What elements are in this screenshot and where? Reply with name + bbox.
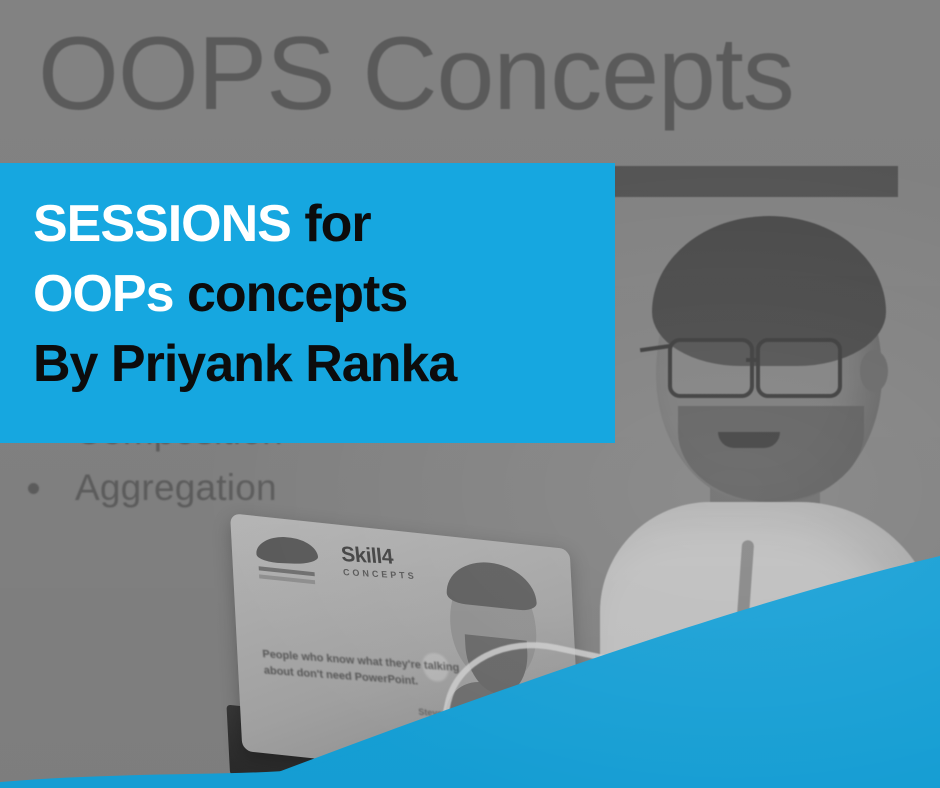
bullet-dot-icon xyxy=(28,483,39,494)
presenter-mouth xyxy=(718,432,780,448)
laptop-sticker-quote-attribution: Steve Jobs xyxy=(266,693,467,723)
laptop-sticker-brand: Skill4 CONCEPTS xyxy=(340,543,417,581)
headline-line-1-rest: for xyxy=(291,195,371,253)
list-item-label: Aggregation xyxy=(75,467,277,509)
headline-line-2: OOPs concepts xyxy=(33,259,456,329)
headline-line-2-rest: concepts xyxy=(174,265,408,323)
headline-line-2-emphasis: OOPs xyxy=(33,265,174,323)
headline-line-1-emphasis: SESSIONS xyxy=(33,195,291,253)
glasses-lens-left-icon xyxy=(668,338,754,398)
presenter-ear xyxy=(860,350,888,392)
headline-line-1: SESSIONS for xyxy=(33,189,456,259)
laptop-sticker-brand-text: Skill4 xyxy=(340,543,394,569)
page-title: OOPS Concepts xyxy=(38,22,794,126)
presenter-beard xyxy=(678,406,864,502)
laptop-sticker-logo-caption xyxy=(259,566,315,576)
list-item: Aggregation xyxy=(28,460,588,516)
headline-line-3: By Priyank Ranka xyxy=(33,329,456,399)
headline-text: SESSIONS for OOPs concepts By Priyank Ra… xyxy=(33,189,456,399)
laptop-sticker-logo-icon xyxy=(254,536,319,564)
glasses-bridge-icon xyxy=(746,358,758,362)
laptop-photo: Skill4 CONCEPTS People who know what the… xyxy=(228,520,648,788)
laptop-sticker-brand-subtext: CONCEPTS xyxy=(343,567,418,581)
headline-banner: SESSIONS for OOPs concepts By Priyank Ra… xyxy=(0,163,615,443)
slide-canvas: OOPS Concepts Abstraction Inheritance As… xyxy=(0,0,940,788)
presenter-shirt xyxy=(600,502,940,712)
glasses-lens-right-icon xyxy=(756,338,842,398)
